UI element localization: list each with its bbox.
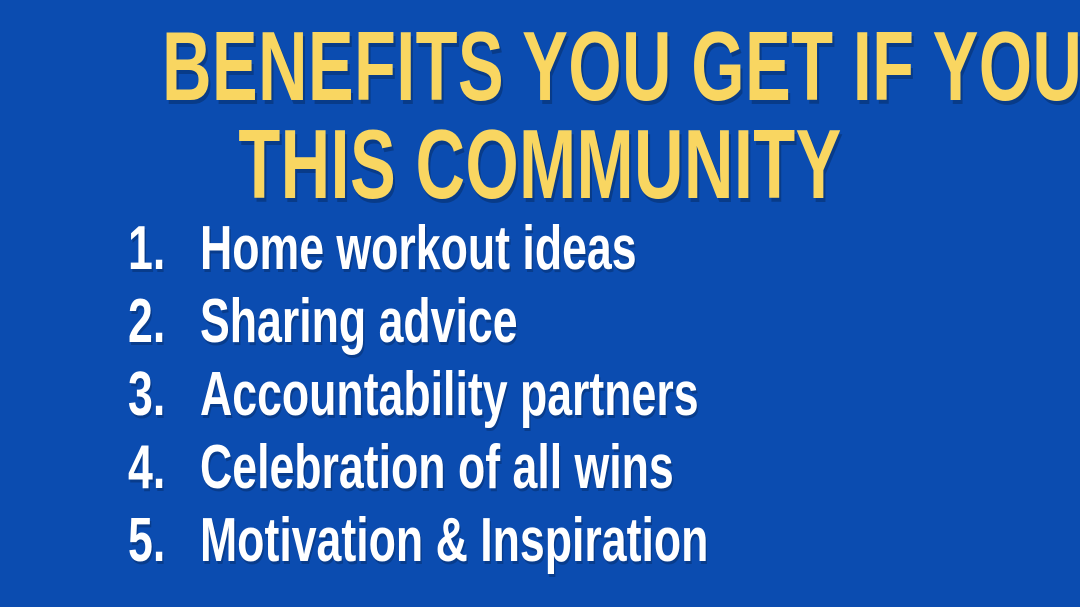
list-item: 2. Sharing advice [128,291,1048,364]
title-line-2: THIS COMMUNITY [162,112,918,216]
title-line-1: BENEFITS YOU GET IF YOU JOIN [162,14,918,118]
list-item-number: 4. [128,437,164,499]
list-item-number: 1. [128,218,164,280]
list-item: 4. Celebration of all wins [128,437,1048,510]
list-item: 1. Home workout ideas [128,218,1048,291]
list-item-label: Sharing advice [200,291,518,353]
list-item-label: Celebration of all wins [200,437,674,499]
benefits-slide: BENEFITS YOU GET IF YOU JOIN THIS COMMUN… [0,0,1080,607]
list-item-number: 2. [128,291,164,353]
list-item-number: 5. [128,510,164,572]
list-item: 3. Accountability partners [128,364,1048,437]
benefits-list: 1. Home workout ideas 2. Sharing advice … [128,218,1048,583]
slide-title: BENEFITS YOU GET IF YOU JOIN THIS COMMUN… [0,14,1080,216]
list-item: 5. Motivation & Inspiration [128,510,1048,583]
list-item-label: Home workout ideas [200,218,637,280]
list-item-label: Motivation & Inspiration [200,510,708,572]
list-item-number: 3. [128,364,164,426]
list-item-label: Accountability partners [200,364,699,426]
